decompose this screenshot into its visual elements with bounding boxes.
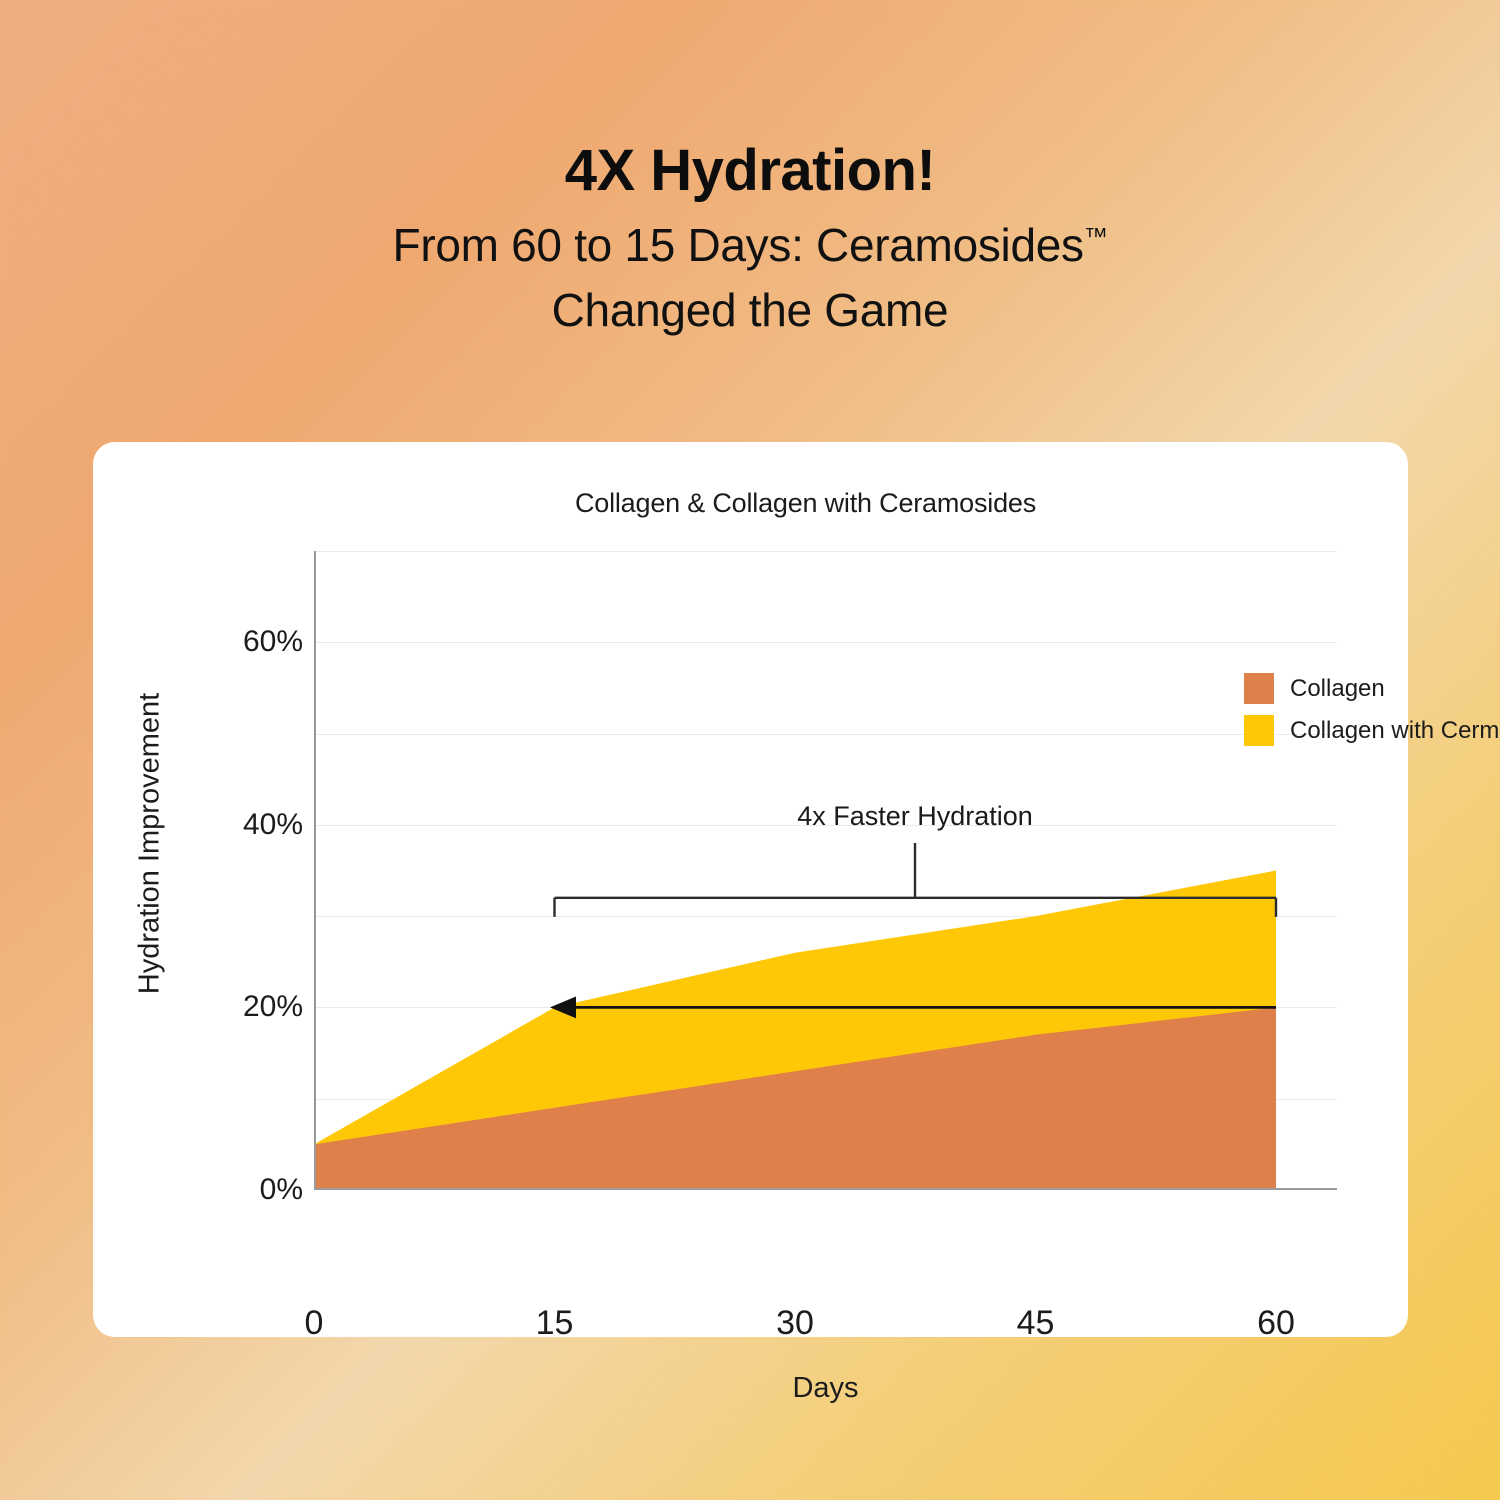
x-tick-0: 0 (254, 1304, 374, 1343)
trademark-symbol: ™ (1084, 223, 1108, 250)
y-axis-title: Hydration Improvement (134, 679, 167, 1009)
x-tick-45: 45 (976, 1304, 1096, 1343)
headline-sub-line2: Changed the Game (552, 284, 949, 336)
headline-sub-line1: From 60 to 15 Days: Ceramosides (393, 219, 1084, 271)
headline-block: 4X Hydration! From 60 to 15 Days: Ceramo… (0, 140, 1500, 343)
chart-title: Collagen & Collagen with Ceramosides (93, 488, 1408, 519)
headline-primary: 4X Hydration! (0, 140, 1500, 203)
y-axis-tick-labels: 0% 20% 40% 60% (173, 551, 303, 1190)
chart-legend: Collagen Collagen with Cermosides (1244, 673, 1500, 757)
legend-label-ceramosides: Collagen with Cermosides (1290, 717, 1500, 745)
x-axis-title: Days (314, 1372, 1337, 1405)
plot-area: Collagen Collagen with Cermosides 4 (314, 551, 1337, 1190)
y-tick-60: 60% (183, 625, 303, 659)
y-tick-40: 40% (183, 808, 303, 842)
legend-label-collagen: Collagen (1290, 675, 1385, 703)
legend-item-collagen[interactable]: Collagen (1244, 673, 1500, 704)
legend-item-ceramosides[interactable]: Collagen with Cermosides (1244, 715, 1500, 746)
chart-card: Collagen & Collagen with Ceramosides 0% … (93, 442, 1408, 1337)
x-axis-line (314, 1188, 1337, 1190)
legend-swatch-collagen-icon (1244, 673, 1274, 704)
y-axis-line (314, 551, 316, 1190)
y-tick-20: 20% (183, 990, 303, 1024)
chart-series-areas (314, 551, 1337, 1190)
y-tick-0: 0% (183, 1173, 303, 1207)
x-tick-15: 15 (495, 1304, 615, 1343)
headline-secondary: From 60 to 15 Days: Ceramosides™ Changed… (0, 213, 1500, 344)
x-tick-30: 30 (735, 1304, 855, 1343)
legend-swatch-ceramosides-icon (1244, 715, 1274, 746)
x-axis-tick-labels: 0 15 30 45 60 (314, 1304, 1337, 1354)
x-tick-60: 60 (1216, 1304, 1336, 1343)
annotation-label-4x-faster: 4x Faster Hydration (655, 801, 1175, 832)
